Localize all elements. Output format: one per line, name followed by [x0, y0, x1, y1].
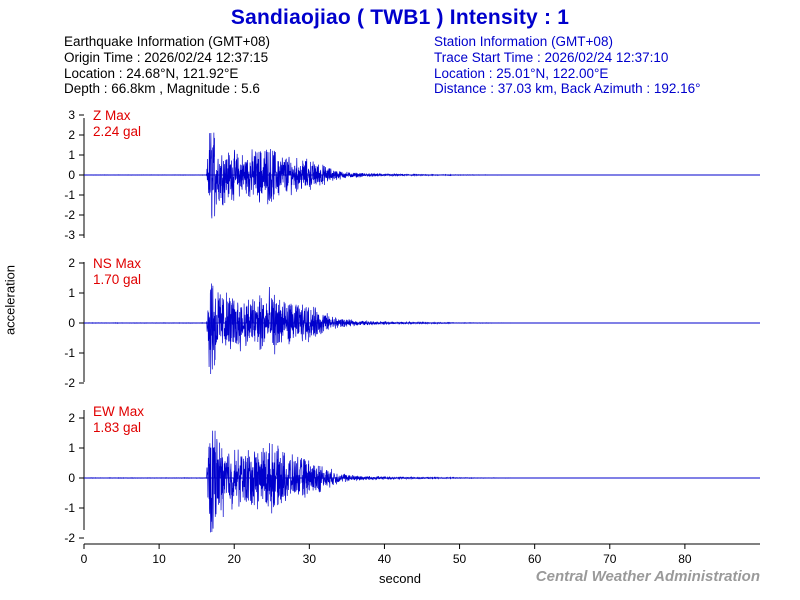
svg-text:-1: -1	[64, 501, 75, 515]
svg-text:0: 0	[81, 552, 88, 566]
svg-text:-2: -2	[64, 531, 75, 545]
svg-text:1: 1	[68, 286, 75, 300]
trace-panel-z: -3-2-10123	[64, 108, 760, 242]
seismogram-plot: -3-2-10123-2-1012-2-10120102030405060708…	[0, 0, 800, 600]
svg-text:-2: -2	[64, 376, 75, 390]
svg-text:-2: -2	[64, 208, 75, 222]
trace-panel-ew: -2-1012	[64, 410, 760, 545]
svg-text:60: 60	[528, 552, 542, 566]
svg-text:-1: -1	[64, 346, 75, 360]
svg-text:30: 30	[303, 552, 317, 566]
svg-text:50: 50	[453, 552, 467, 566]
svg-text:10: 10	[152, 552, 166, 566]
svg-text:0: 0	[68, 316, 75, 330]
svg-text:20: 20	[228, 552, 242, 566]
x-axis: 01020304050607080	[81, 544, 760, 566]
svg-text:-3: -3	[64, 228, 75, 242]
svg-text:2: 2	[68, 128, 75, 142]
svg-text:1: 1	[68, 441, 75, 455]
svg-text:2: 2	[68, 256, 75, 270]
svg-text:3: 3	[68, 108, 75, 122]
svg-text:70: 70	[603, 552, 617, 566]
svg-text:80: 80	[678, 552, 692, 566]
trace-panel-ns: -2-1012	[64, 256, 760, 390]
svg-text:2: 2	[68, 411, 75, 425]
svg-text:0: 0	[68, 471, 75, 485]
svg-text:1: 1	[68, 148, 75, 162]
svg-text:0: 0	[68, 168, 75, 182]
svg-text:-1: -1	[64, 188, 75, 202]
svg-text:40: 40	[378, 552, 392, 566]
